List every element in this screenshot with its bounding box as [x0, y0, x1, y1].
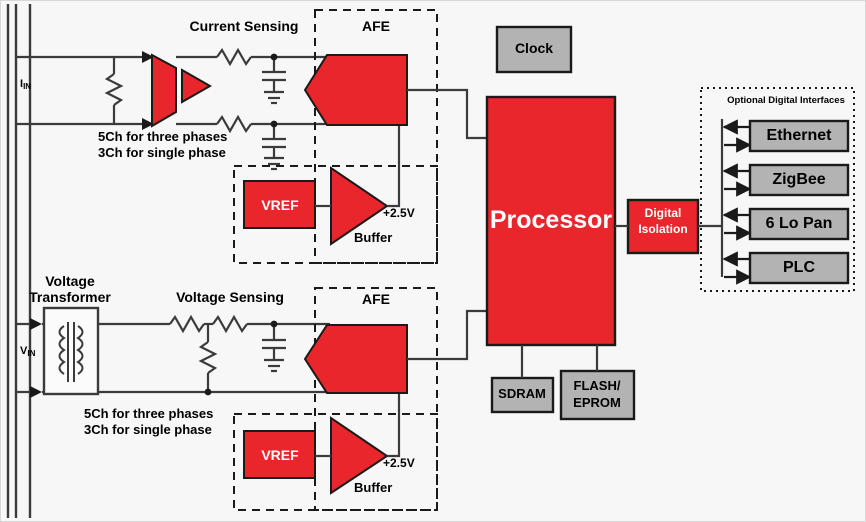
- channel-note-top-line2: 3Ch for single phase: [98, 146, 226, 161]
- diagram-svg: [0, 0, 866, 522]
- digital-isolation-label-line2: Isolation: [638, 223, 687, 237]
- junction-dot: [271, 121, 278, 128]
- current-sensing-label: Current Sensing: [190, 18, 299, 34]
- optional-digital-interfaces-label: Optional Digital Interfaces: [727, 96, 845, 107]
- buffer-top-label: Buffer: [354, 231, 392, 246]
- plus-2v5-top-label: +2.5V: [383, 207, 415, 221]
- block-diagram-canvas: Current Sensing IIN 5Ch for three phases…: [0, 0, 866, 522]
- plc-label: PLC: [783, 259, 815, 277]
- sdram-label: SDRAM: [498, 387, 546, 402]
- afe-top-shape: [305, 55, 407, 125]
- afe-top-label: AFE: [362, 18, 390, 34]
- vref-bottom-label: VREF: [261, 447, 298, 463]
- i-in-label: IIN: [20, 78, 31, 91]
- flash-label-line2: EPROM: [573, 396, 621, 411]
- afe-bottom-shape: [305, 325, 407, 393]
- processor-label: Processor: [490, 206, 612, 235]
- 6-lo-pan-label: 6 Lo Pan: [766, 215, 833, 233]
- voltage-transformer-box: [44, 308, 98, 394]
- voltage-transformer-label-line1: Voltage: [45, 273, 95, 289]
- voltage-sensing-label: Voltage Sensing: [176, 289, 284, 305]
- channel-note-bottom-line2: 3Ch for single phase: [84, 423, 212, 438]
- vref-top-label: VREF: [261, 197, 298, 213]
- buffer-bottom-label: Buffer: [354, 481, 392, 496]
- channel-note-bottom-line1: 5Ch for three phases: [84, 407, 213, 422]
- zigbee-label: ZigBee: [772, 171, 825, 189]
- junction-dot: [205, 389, 212, 396]
- junction-dot: [271, 321, 278, 328]
- channel-note-top-line1: 5Ch for three phases: [98, 130, 227, 145]
- flash-label-line1: FLASH/: [574, 379, 621, 394]
- v-in-label: VIN: [20, 345, 35, 358]
- ethernet-label: Ethernet: [767, 127, 832, 145]
- afe-bottom-label: AFE: [362, 291, 390, 307]
- digital-isolation-label-line1: Digital: [645, 207, 682, 221]
- plus-2v5-bottom-label: +2.5V: [383, 457, 415, 471]
- clock-label: Clock: [515, 40, 553, 56]
- voltage-transformer-label-line2: Transformer: [29, 289, 111, 305]
- junction-dot: [271, 54, 278, 61]
